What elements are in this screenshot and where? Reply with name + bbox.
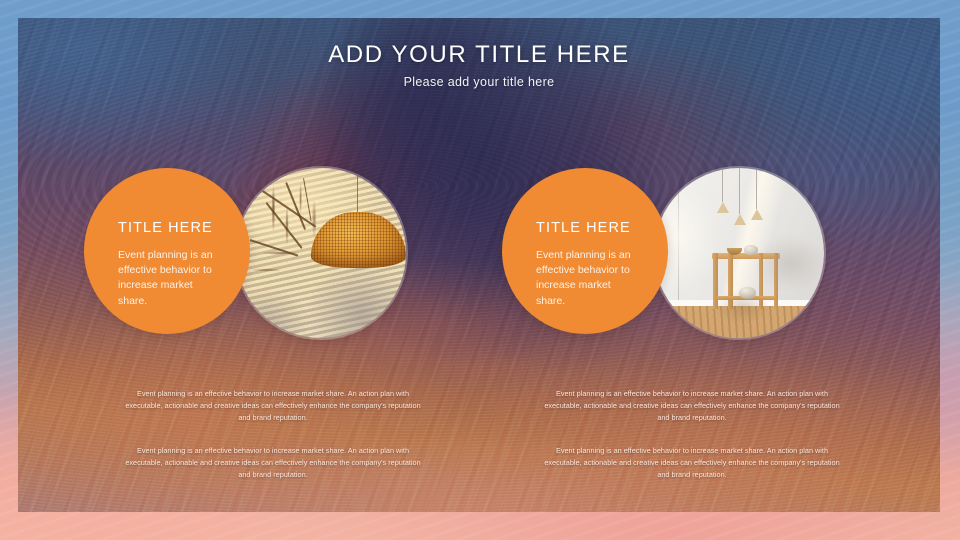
paragraph-column-left: Event planning is an effective behavior … [123,388,423,503]
photo-b-shadows [654,168,824,338]
info-circle-right-title: TITLE HERE [536,220,631,236]
rattan-pendant-lamp-photo[interactable] [236,168,406,338]
info-circle-right-body: Event planning is an effective behavior … [536,248,640,309]
paragraph-text: Event planning is an effective behavior … [542,388,842,423]
slide-canvas: ADD YOUR TITLE HERE Please add your titl… [18,18,940,512]
content-panel-left: TITLE HERE Event planning is an effectiv… [84,168,436,338]
paragraph-text: Event planning is an effective behavior … [542,445,842,480]
info-circle-right[interactable]: TITLE HERE Event planning is an effectiv… [502,168,668,334]
paragraph-text: Event planning is an effective behavior … [123,388,423,423]
circle-pair-right: TITLE HERE Event planning is an effectiv… [502,168,854,338]
info-circle-left-title: TITLE HERE [118,220,213,236]
slide-header: ADD YOUR TITLE HERE Please add your titl… [18,42,940,89]
paragraph-column-right: Event planning is an effective behavior … [542,388,842,503]
info-circle-left[interactable]: TITLE HERE Event planning is an effectiv… [84,168,250,334]
photo-a-soft-shadows [236,168,406,338]
info-circle-left-body: Event planning is an effective behavior … [118,248,222,309]
circle-pair-left: TITLE HERE Event planning is an effectiv… [84,168,436,338]
paragraph-text: Event planning is an effective behavior … [123,445,423,480]
page-subtitle: Please add your title here [18,75,940,89]
minimal-interior-console-table-photo[interactable] [654,168,824,338]
content-panel-right: TITLE HERE Event planning is an effectiv… [502,168,854,338]
page-title: ADD YOUR TITLE HERE [18,42,940,68]
